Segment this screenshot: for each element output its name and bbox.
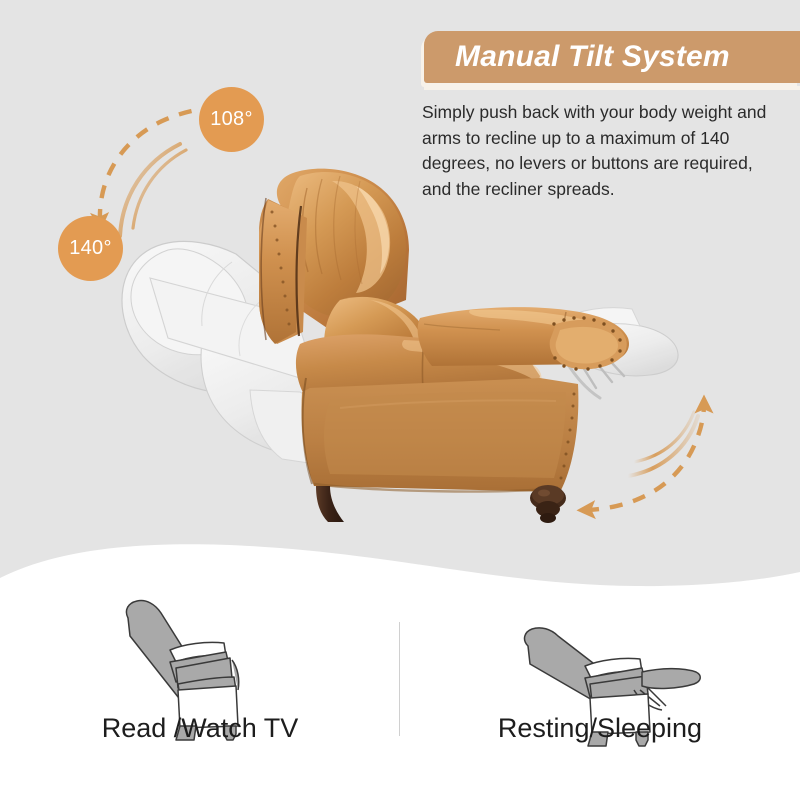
angle-badge-reclined: 140° (58, 216, 123, 281)
leather-recliner-chair (259, 169, 629, 523)
tilt-arrow-lower (586, 404, 704, 510)
description-text: Simply push back with your body weight a… (422, 100, 784, 202)
front-bun-leg (530, 485, 566, 523)
page-title: Manual Tilt System (455, 40, 730, 74)
banner-underline (424, 86, 800, 90)
mode-label-resting-sleeping: Resting/Sleeping (400, 713, 800, 744)
infographic-stage: Manual Tilt System Simply push back with… (0, 0, 800, 800)
angle-badge-upright: 108° (199, 87, 264, 152)
back-leg (316, 486, 344, 522)
mode-label-read-watch-tv: Read /Watch TV (0, 713, 400, 744)
header-banner: Manual Tilt System (424, 31, 800, 83)
bottom-panel (0, 600, 800, 800)
